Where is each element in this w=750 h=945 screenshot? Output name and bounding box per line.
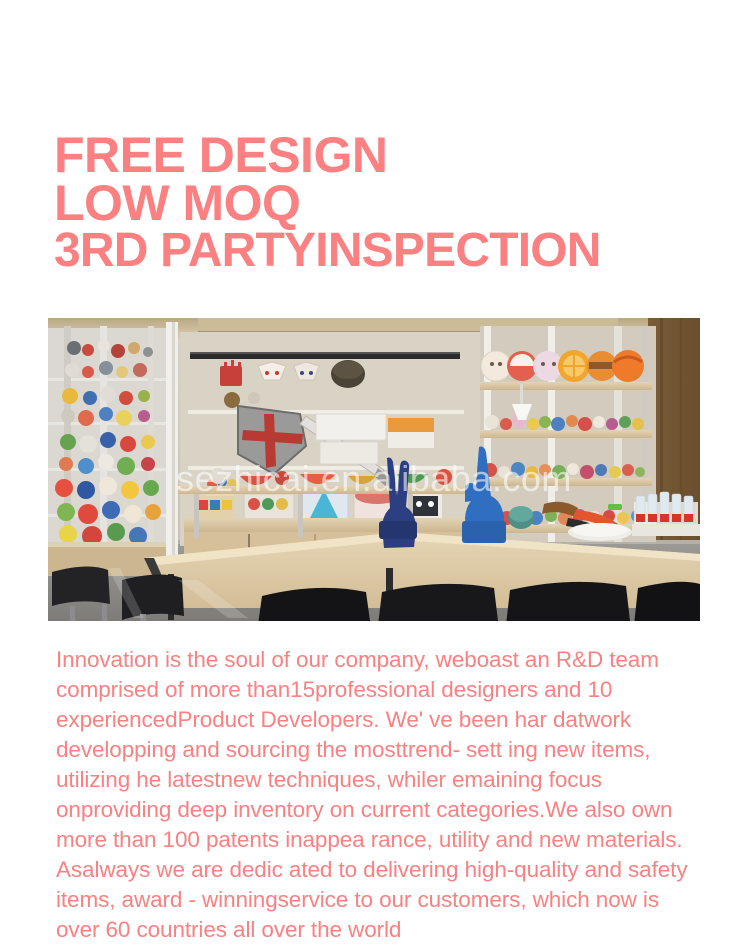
headline-line-2: LOW MOQ [54,179,704,227]
headline-line-3: 3RD PARTYINSPECTION [54,227,704,275]
description-paragraph: Innovation is the soul of our company, w… [56,645,704,945]
headline-block: FREE DESIGN LOW MOQ 3RD PARTYINSPECTION [54,131,704,275]
promo-page: FREE DESIGN LOW MOQ 3RD PARTYINSPECTION [0,0,750,924]
left-display-case [48,326,168,576]
headline-line-1: FREE DESIGN [54,131,704,179]
showroom-photo-illustration [48,318,700,621]
showroom-photo: sezhicai.en.alibaba.com [48,318,700,621]
description-text: Innovation is the soul of our company, w… [56,645,704,945]
